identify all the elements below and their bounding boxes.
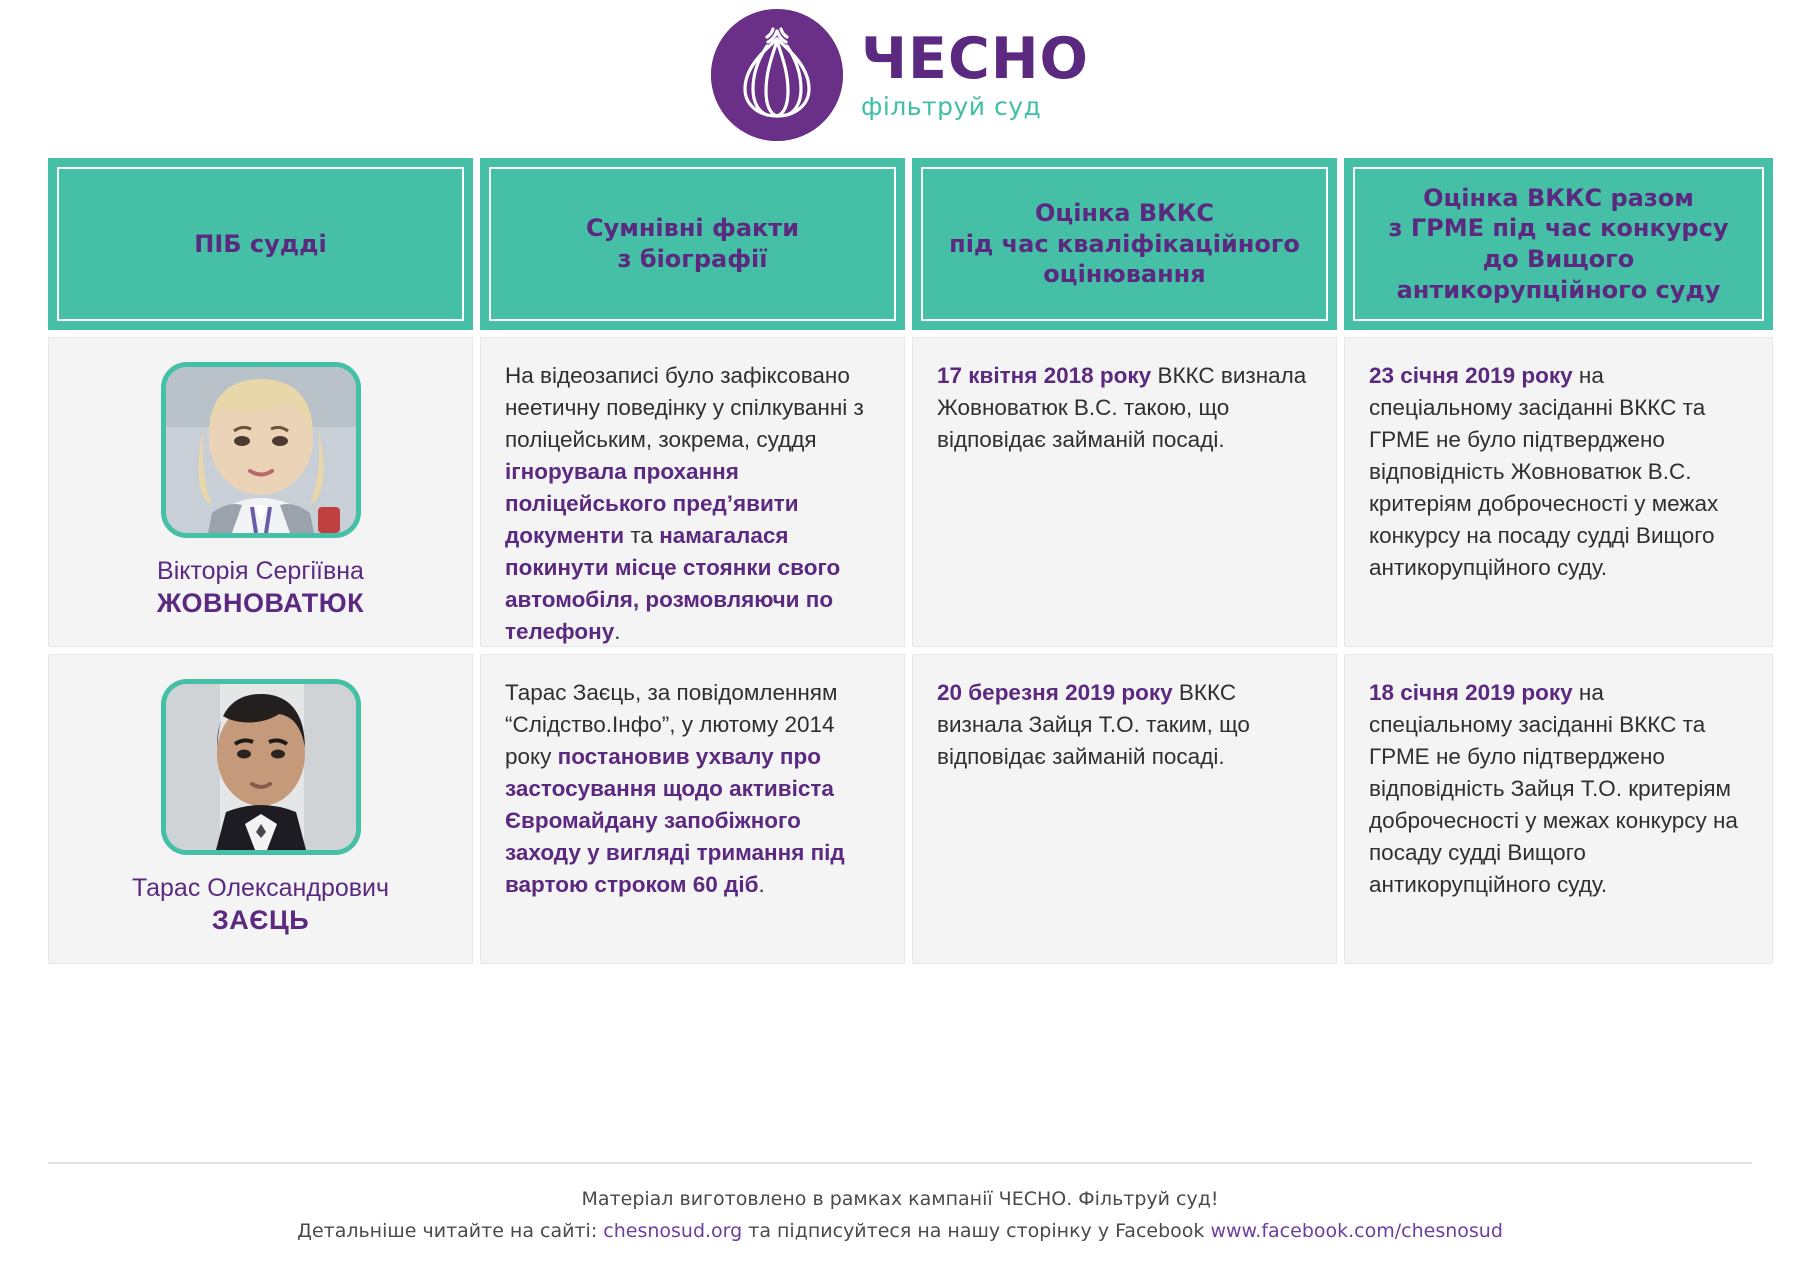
vkks-grme-assessment-cell: 18 січня 2019 року на спеціальному засід… (1344, 654, 1773, 964)
vkks-grme-date: 18 січня 2019 року (1369, 680, 1573, 705)
bio-part-plain: . (614, 619, 620, 644)
vkks-text: 17 квітня 2018 року ВККС визнала Жовнова… (937, 360, 1312, 456)
garlic-bulb-icon (711, 9, 843, 141)
judge-profile-cell: Тарас Олександрович ЗАЄЦЬ (48, 654, 473, 964)
biography-text: Тарас Заєць, за повідомленням “Слідство.… (505, 677, 880, 901)
judge-last-name: ЗАЄЦЬ (132, 904, 389, 937)
vkks-grme-assessment-cell: 23 січня 2019 року на спеціальному засід… (1344, 337, 1773, 647)
brand-subtitle: фільтруй суд (861, 94, 1089, 119)
biography-facts-cell: Тарас Заєць, за повідомленням “Слідство.… (480, 654, 905, 964)
table-row: Вікторія Сергіївна ЖОВНОВАТЮК На відеоза… (48, 337, 1752, 647)
footer-mid: та підписуйтеся на нашу сторінку у Faceb… (742, 1220, 1210, 1242)
column-header-label: Сумнівні факти з біографії (586, 213, 799, 274)
judge-first-name: Тарас Олександрович (132, 873, 389, 904)
facebook-link[interactable]: www.facebook.com/chesnosud (1210, 1220, 1502, 1242)
biography-text: На відеозаписі було зафіксовано неетичну… (505, 360, 880, 647)
brand-title: ЧЕСНО (861, 31, 1089, 88)
vkks-grme-text: 18 січня 2019 року на спеціальному засід… (1369, 677, 1748, 901)
column-header-biography-facts: Сумнівні факти з біографії (480, 158, 905, 330)
vkks-date: 17 квітня 2018 року (937, 363, 1151, 388)
biography-facts-cell: На відеозаписі було зафіксовано неетичну… (480, 337, 905, 647)
judge-name: Вікторія Сергіївна ЖОВНОВАТЮК (157, 556, 364, 619)
judge-last-name: ЖОВНОВАТЮК (157, 587, 364, 620)
bio-part-plain: . (758, 872, 764, 897)
bio-part-plain: та (624, 523, 659, 548)
judge-name: Тарас Олександрович ЗАЄЦЬ (132, 873, 389, 936)
footer-line-1: Матеріал виготовлено в рамках кампанії Ч… (48, 1184, 1752, 1215)
column-header-vkks-grme-assessment: Оцінка ВККС разом з ГРМЕ під час конкурс… (1344, 158, 1773, 330)
vkks-text: 20 березня 2019 року ВККС визнала Зайця … (937, 677, 1312, 773)
bio-part-plain: На відеозаписі було зафіксовано неетичну… (505, 363, 864, 452)
column-header-judge-name: ПІБ судді (48, 158, 473, 330)
footer-prefix: Детальніше читайте на сайті: (297, 1220, 603, 1242)
vkks-date: 20 березня 2019 року (937, 680, 1173, 705)
column-header-label: Оцінка ВККС разом з ГРМЕ під час конкурс… (1389, 183, 1729, 306)
vkks-grme-date: 23 січня 2019 року (1369, 363, 1573, 388)
vkks-grme-text: 23 січня 2019 року на спеціальному засід… (1369, 360, 1748, 584)
table-row: Тарас Олександрович ЗАЄЦЬ Тарас Заєць, з… (48, 654, 1752, 964)
column-header-vkks-assessment: Оцінка ВККС під час кваліфікаційного оці… (912, 158, 1337, 330)
avatar (161, 679, 361, 855)
column-header-label: Оцінка ВККС під час кваліфікаційного оці… (949, 198, 1300, 290)
vkks-assessment-cell: 17 квітня 2018 року ВККС визнала Жовнова… (912, 337, 1337, 647)
table-header-row: ПІБ судді Сумнівні факти з біографії Оці… (48, 158, 1752, 330)
brand-header: ЧЕСНО фільтруй суд (0, 0, 1800, 150)
column-header-label: ПІБ судді (194, 229, 327, 260)
judges-table: ПІБ судді Сумнівні факти з біографії Оці… (48, 158, 1752, 964)
footer: Матеріал виготовлено в рамках кампанії Ч… (48, 1162, 1752, 1247)
footer-line-2: Детальніше читайте на сайті: chesnosud.o… (48, 1216, 1752, 1247)
avatar (161, 362, 361, 538)
vkks-grme-body: на спеціальному засіданні ВККС та ГРМЕ н… (1369, 680, 1738, 897)
judge-first-name: Вікторія Сергіївна (157, 556, 364, 587)
vkks-grme-body: на спеціальному засіданні ВККС та ГРМЕ н… (1369, 363, 1718, 580)
vkks-assessment-cell: 20 березня 2019 року ВККС визнала Зайця … (912, 654, 1337, 964)
judge-profile-cell: Вікторія Сергіївна ЖОВНОВАТЮК (48, 337, 473, 647)
site-link[interactable]: chesnosud.org (603, 1220, 742, 1242)
brand-wordmark: ЧЕСНО фільтруй суд (861, 31, 1089, 119)
